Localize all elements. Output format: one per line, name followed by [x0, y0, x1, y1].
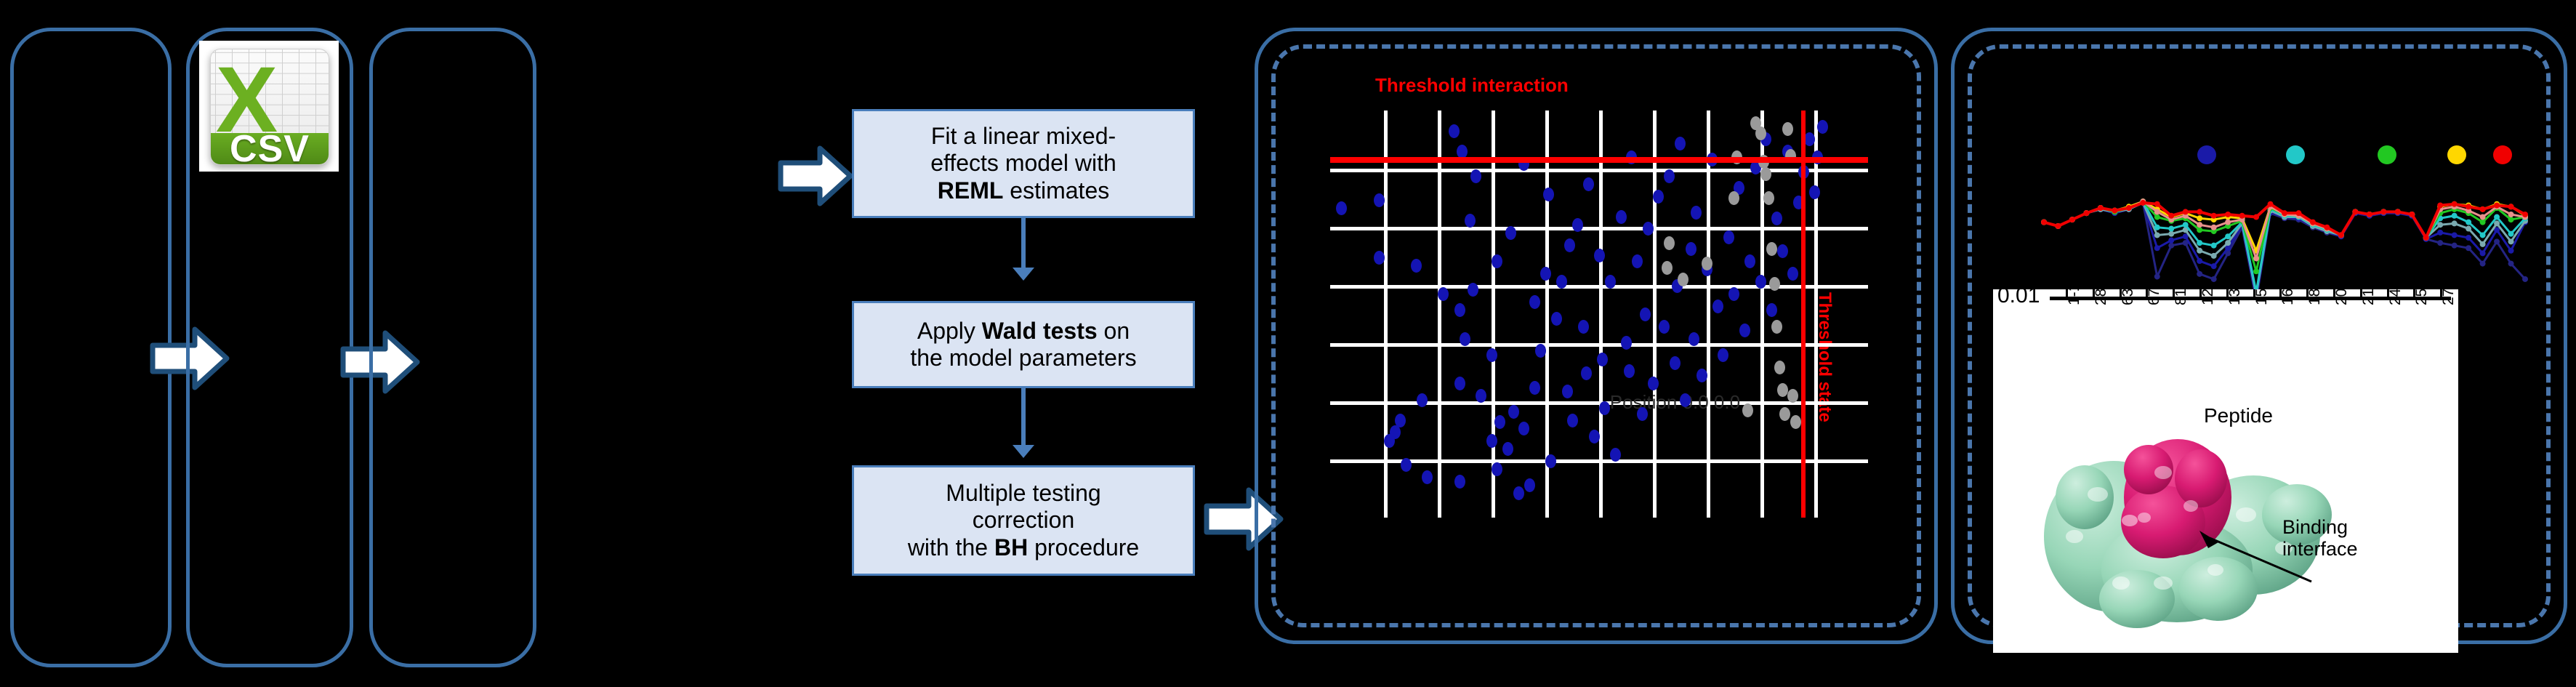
peptide-tick-label: 200-214	[2333, 289, 2351, 305]
marker-series-red	[2466, 204, 2471, 209]
marker-series-red	[2197, 209, 2202, 214]
marker-series-red	[2268, 201, 2274, 207]
marker-series-red	[2310, 220, 2316, 225]
scatter-point-significant	[1449, 124, 1460, 138]
scatter-point-significant	[1460, 332, 1470, 346]
binding-interface-annotation: Binding interface	[2282, 516, 2358, 560]
peptide-tick-label: 67-75	[2146, 289, 2163, 305]
scatter-point-nonsignificant	[1763, 191, 1774, 205]
marker-series-cyan	[2466, 220, 2471, 225]
scatter-plot-area[interactable]: Threshold state Position 0.0 0.0	[1330, 111, 1868, 518]
scatter-point-significant	[1567, 414, 1578, 427]
marker-series-cyan	[2494, 214, 2500, 220]
marker-series-red	[2522, 212, 2528, 217]
scatter-point-significant	[1518, 422, 1529, 435]
peptide-tick-label: 258-266	[2413, 289, 2431, 305]
peptide-tick-label: 1-15	[2066, 289, 2083, 305]
peptide-tick-label: 135-144	[2226, 289, 2244, 305]
peptide-y-tick-label: 0.01	[1997, 289, 2040, 308]
scatter-gridline-v	[1599, 111, 1603, 518]
marker-series-steel	[2508, 238, 2514, 244]
scatter-point-significant	[1675, 137, 1686, 150]
marker-series-salmon	[2480, 214, 2486, 220]
scatter-point-significant	[1470, 169, 1481, 183]
marker-series-blue	[2480, 250, 2486, 256]
marker-series-blue	[2168, 238, 2174, 244]
scatter-point-significant	[1374, 251, 1385, 265]
step-wald-emphasis: Wald tests	[982, 318, 1098, 344]
marker-series-steel	[2154, 232, 2160, 238]
marker-series-navy	[2452, 243, 2458, 249]
peptide-tick-label: 28-44	[2093, 289, 2110, 305]
scatter-point-significant	[1513, 486, 1524, 500]
peptide-axis-tick	[2120, 289, 2122, 297]
step-wald-text: Apply Wald tests on the model parameters	[910, 318, 1136, 371]
marker-series-navy	[2168, 243, 2174, 249]
peptide-tick-label: 241-257	[2387, 289, 2404, 305]
scatter-point-significant	[1787, 267, 1798, 281]
marker-series-red	[2126, 205, 2132, 211]
scatter-point-nonsignificant	[1790, 415, 1801, 429]
scatter-point-significant	[1648, 377, 1659, 390]
flow-connector-1-arrowhead	[1013, 268, 1034, 281]
scatter-point-significant	[1744, 254, 1755, 268]
scatter-point-significant	[1486, 434, 1497, 448]
scatter-point-significant	[1468, 283, 1478, 297]
scatter-gridline-v	[1707, 111, 1710, 518]
scatter-point-significant	[1529, 381, 1540, 395]
scatter-point-significant	[1508, 405, 1519, 419]
scatter-point-nonsignificant	[1728, 191, 1739, 205]
marker-series-red	[2480, 206, 2486, 212]
marker-series-steel	[2480, 241, 2486, 247]
scatter-point-significant	[1728, 287, 1739, 301]
marker-series-red	[2452, 201, 2458, 207]
csv-file-icon[interactable]: X CSV	[199, 41, 339, 172]
step-bh-box[interactable]: Multiple testing correction with the BH …	[852, 465, 1195, 576]
peptide-tick-label: 218-237	[2360, 289, 2378, 305]
peptide-axis-tick	[2066, 289, 2068, 297]
marker-series-red	[2211, 213, 2217, 219]
marker-series-navy	[2480, 261, 2486, 267]
peptide-axis-tick	[2226, 289, 2229, 297]
marker-series-red	[2437, 203, 2443, 209]
input-panel[interactable]	[10, 28, 172, 667]
marker-series-red	[2239, 213, 2245, 219]
scatter-point-significant	[1680, 393, 1691, 407]
scatter-point-nonsignificant	[1769, 277, 1780, 291]
marker-series-navy	[2211, 276, 2217, 282]
scatter-point-significant	[1712, 300, 1723, 313]
scatter-point-significant	[1454, 377, 1465, 390]
marker-series-cyan	[2183, 222, 2189, 228]
marker-series-red	[2225, 212, 2231, 217]
scatter-point-nonsignificant	[1678, 273, 1689, 286]
step-bh-line2: correction	[973, 507, 1075, 533]
scatter-point-significant	[1640, 308, 1651, 321]
block-arrow-2	[778, 142, 853, 209]
marker-series-cyan	[2225, 233, 2231, 239]
marker-series-red	[2069, 217, 2075, 222]
scatter-point-significant	[1524, 478, 1535, 492]
marker-series-salmon	[2197, 222, 2202, 228]
peptide-axis-tick	[2413, 289, 2415, 297]
marker-series-red	[2154, 201, 2160, 207]
scatter-point-significant	[1395, 414, 1406, 427]
scatter-point-significant	[1817, 120, 1828, 134]
scatter-point-significant	[1686, 242, 1696, 256]
scatter-point-significant	[1624, 364, 1635, 378]
step-bh-emphasis: BH	[994, 534, 1028, 561]
marker-series-cyan	[2508, 231, 2514, 237]
marker-series-cyan	[2168, 226, 2174, 232]
step-reml-suffix: estimates	[1003, 177, 1109, 204]
marker-series-blue	[2437, 230, 2443, 236]
scatter-point-significant	[1766, 303, 1777, 317]
csv-format-label: CSV	[230, 127, 310, 165]
scatter-point-significant	[1502, 442, 1513, 456]
scatter-point-significant	[1689, 332, 1699, 346]
scatter-point-significant	[1562, 385, 1573, 398]
scatter-point-significant	[1551, 312, 1562, 326]
flow-connector-2-arrowhead	[1013, 445, 1034, 458]
analysis-panel[interactable]	[369, 28, 536, 667]
threshold-interaction-line	[1330, 157, 1868, 163]
peptide-axis-tick	[2199, 289, 2202, 297]
marker-series-red	[2083, 210, 2089, 216]
marker-series-salmon	[2508, 212, 2514, 217]
marker-series-red	[2508, 204, 2514, 209]
marker-series-green	[2508, 217, 2514, 222]
peptide-axis-tick	[2387, 289, 2389, 297]
marker-series-salmon	[2225, 220, 2231, 225]
peptide-axis-tick	[2279, 289, 2282, 297]
marker-series-cyan	[2197, 240, 2202, 246]
marker-series-red	[2494, 203, 2500, 209]
scatter-gridline-v	[1438, 111, 1441, 518]
scatter-point-significant	[1583, 177, 1594, 191]
scatter-point-significant	[1809, 185, 1820, 199]
marker-series-red	[2380, 209, 2386, 214]
scatter-point-significant	[1529, 295, 1540, 309]
scatter-gridline-v	[1653, 111, 1657, 518]
peptide-tick-label: 122-129	[2199, 289, 2217, 305]
marker-series-steel	[2494, 220, 2500, 226]
step-reml-line2: effects model with	[930, 150, 1116, 176]
peptide-tick-label: 81-101	[2173, 289, 2190, 305]
step-reml-emphasis: REML	[938, 177, 1004, 204]
peptide-axis-tick	[2146, 289, 2148, 297]
marker-series-steel	[2452, 220, 2458, 226]
scatter-point-significant	[1545, 454, 1556, 468]
marker-series-red	[2183, 209, 2189, 214]
scatter-point-significant	[1422, 470, 1433, 484]
flow-connector-2	[1021, 388, 1026, 448]
scatter-point-significant	[1417, 393, 1428, 407]
scatter-point-significant	[1653, 190, 1664, 204]
scatter-point-significant	[1581, 366, 1592, 380]
scatter-point-significant	[1605, 275, 1616, 289]
marker-series-navy	[2154, 273, 2160, 279]
scatter-point-significant	[1494, 415, 1505, 429]
marker-series-red	[2338, 232, 2344, 238]
scatter-point-significant	[1670, 356, 1681, 370]
scatter-point-significant	[1492, 462, 1502, 476]
marker-series-red	[2367, 212, 2372, 217]
marker-series-red	[2409, 212, 2415, 217]
binding-interface-line2: interface	[2282, 538, 2358, 560]
scatter-point-significant	[1643, 222, 1654, 236]
marker-series-red	[2098, 205, 2104, 211]
scatter-point-nonsignificant	[1766, 242, 1777, 256]
marker-series-navy	[2197, 271, 2202, 277]
scatter-gridline-v	[1384, 111, 1388, 518]
marker-series-red	[2112, 208, 2117, 214]
peptide-tick-label: 184-199	[2306, 289, 2324, 305]
peptide-tick-label: 63-73	[2120, 289, 2137, 305]
marker-series-red	[2423, 235, 2429, 241]
peptide-series-svg	[1993, 138, 2531, 305]
marker-series-red	[2282, 210, 2287, 216]
step-bh-line1: Multiple testing	[946, 480, 1100, 506]
scatter-point-nonsignificant	[1664, 236, 1675, 250]
marker-series-yellow	[2197, 215, 2202, 221]
marker-series-cyan	[2480, 232, 2486, 238]
step-wald-prefix: Apply	[917, 318, 982, 344]
scatter-point-significant	[1777, 244, 1788, 258]
scatter-point-significant	[1771, 212, 1782, 225]
scatter-point-significant	[1659, 320, 1670, 334]
step-wald-box[interactable]: Apply Wald tests on the model parameters	[852, 301, 1195, 388]
peptide-axis-tick	[2173, 289, 2175, 297]
marker-series-red	[2055, 223, 2061, 229]
scatter-point-nonsignificant	[1742, 403, 1753, 417]
legend-dot-series-green	[2378, 145, 2396, 164]
step-reml-box[interactable]: Fit a linear mixed- effects model with R…	[852, 109, 1195, 218]
marker-series-navy	[2522, 276, 2528, 282]
peptide-line-chart[interactable]	[1993, 138, 2531, 305]
marker-series-green	[2154, 214, 2160, 220]
scatter-point-significant	[1543, 188, 1554, 201]
scatter-point-significant	[1454, 475, 1465, 489]
peptide-axis-tick	[2440, 289, 2442, 297]
marker-series-blue	[2197, 258, 2202, 264]
step-bh-line3-prefix: with the	[908, 534, 994, 561]
marker-series-cyan	[2452, 213, 2458, 219]
marker-series-steel	[2211, 253, 2217, 259]
peptide-axis-tick	[2253, 289, 2255, 297]
marker-series-navy	[2437, 240, 2443, 246]
marker-series-green	[2197, 227, 2202, 233]
marker-series-red	[2395, 209, 2401, 214]
scatter-chart[interactable]: Threshold interaction Threshold state Po…	[1308, 64, 1890, 573]
step-bh-line3-suffix: procedure	[1028, 534, 1139, 561]
scatter-point-nonsignificant	[1774, 361, 1785, 374]
scatter-point-significant	[1599, 401, 1610, 415]
marker-series-red	[2253, 214, 2259, 220]
scatter-point-nonsignificant	[1755, 126, 1766, 140]
legend-dot-series-blue	[2197, 145, 2216, 164]
scatter-point-nonsignificant	[1777, 383, 1788, 397]
scatter-point-nonsignificant	[1760, 167, 1771, 181]
step-reml-text: Fit a linear mixed- effects model with R…	[930, 123, 1116, 204]
scatter-point-significant	[1589, 430, 1600, 443]
scatter-point-significant	[1454, 303, 1465, 317]
peptide-axis-tick	[2333, 289, 2335, 297]
scatter-point-significant	[1637, 407, 1648, 421]
peptide-axis-title: Peptide	[2204, 404, 2273, 427]
marker-series-blue	[2466, 235, 2471, 241]
scatter-point-nonsignificant	[1702, 257, 1712, 270]
peptide-axis-tick	[2093, 289, 2095, 297]
scatter-point-nonsignificant	[1779, 407, 1790, 421]
marker-series-steel	[2168, 231, 2174, 237]
marker-series-blue	[2508, 248, 2514, 254]
scatter-point-significant	[1718, 348, 1728, 362]
legend-dot-series-red	[2493, 145, 2512, 164]
marker-series-navy	[2466, 245, 2471, 251]
marker-series-red	[2295, 210, 2301, 216]
scatter-point-significant	[1594, 249, 1605, 262]
scatter-point-significant	[1438, 287, 1449, 301]
scatter-title: Threshold interaction	[1375, 74, 1569, 97]
scatter-point-significant	[1632, 254, 1643, 268]
scatter-point-nonsignificant	[1782, 122, 1793, 136]
peptide-axis-tick	[2360, 289, 2362, 297]
step-wald-suffix: on	[1098, 318, 1130, 344]
peptide-tick-label: 158-166	[2253, 289, 2271, 305]
marker-series-red	[2140, 200, 2146, 206]
scatter-point-significant	[1739, 324, 1750, 337]
scatter-gridline-v	[1814, 111, 1818, 518]
step-reml-line1: Fit a linear mixed-	[931, 123, 1116, 149]
step-bh-text: Multiple testing correction with the BH …	[908, 480, 1139, 561]
scatter-point-significant	[1486, 348, 1497, 362]
marker-series-red	[2352, 209, 2358, 214]
csv-format-band: CSV	[211, 133, 328, 164]
scatter-point-significant	[1540, 267, 1551, 281]
scatter-point-significant	[1616, 210, 1627, 224]
scatter-faint-text: Position 0.0 0.0	[1610, 391, 1740, 414]
scatter-point-nonsignificant	[1662, 261, 1673, 275]
scatter-point-significant	[1505, 226, 1516, 240]
scatter-point-significant	[1664, 169, 1675, 183]
marker-series-steel	[2225, 240, 2231, 246]
scatter-point-significant	[1457, 145, 1468, 158]
scatter-point-significant	[1336, 201, 1347, 215]
marker-series-navy	[2508, 261, 2514, 267]
marker-series-red	[2324, 225, 2330, 230]
peptide-tick-label: 277-284	[2440, 289, 2458, 305]
scatter-point-nonsignificant	[1771, 320, 1782, 334]
scatter-gridline-v	[1492, 111, 1495, 518]
marker-series-red	[2041, 220, 2047, 225]
scatter-point-significant	[1390, 425, 1401, 439]
marker-series-blue	[2211, 263, 2217, 269]
peptide-axis-tick	[2306, 289, 2309, 297]
scatter-point-significant	[1374, 193, 1385, 207]
flow-connector-1	[1021, 218, 1026, 270]
scatter-point-significant	[1564, 238, 1575, 252]
marker-series-steel	[2197, 248, 2202, 254]
scatter-point-significant	[1492, 254, 1502, 268]
marker-series-green	[2253, 268, 2259, 274]
scatter-point-significant	[1535, 344, 1546, 358]
marker-series-green	[2480, 220, 2486, 225]
marker-series-blue	[2154, 245, 2160, 251]
marker-series-steel	[2466, 226, 2471, 232]
csv-icon-tile: X CSV	[210, 49, 329, 165]
scatter-point-significant	[1691, 206, 1702, 220]
scatter-point-significant	[1621, 336, 1632, 350]
scatter-point-significant	[1696, 369, 1707, 382]
marker-series-salmon	[2211, 225, 2217, 230]
marker-series-cyan	[2211, 243, 2217, 249]
marker-series-navy	[2494, 238, 2500, 244]
marker-series-salmon	[2154, 209, 2160, 214]
scatter-point-significant	[1597, 353, 1608, 366]
scatter-point-significant	[1411, 259, 1422, 273]
threshold-state-line	[1801, 111, 1806, 518]
marker-series-salmon	[2253, 255, 2259, 261]
peptide-figure-card[interactable]: 0.01 1-1528-4463-7367-7581-101122-129135…	[1993, 289, 2458, 653]
scatter-point-significant	[1578, 320, 1589, 334]
scatter-point-significant	[1465, 214, 1476, 228]
scatter-point-significant	[1401, 458, 1412, 472]
scatter-point-significant	[1723, 230, 1734, 244]
scatter-point-significant	[1804, 132, 1815, 146]
marker-series-red	[2168, 213, 2174, 219]
binding-interface-line1: Binding	[2282, 516, 2358, 538]
peptide-tick-label: 167-180	[2279, 289, 2297, 305]
marker-series-cyan	[2154, 225, 2160, 230]
marker-series-blue	[2452, 232, 2458, 238]
step-wald-line2: the model parameters	[910, 345, 1136, 371]
